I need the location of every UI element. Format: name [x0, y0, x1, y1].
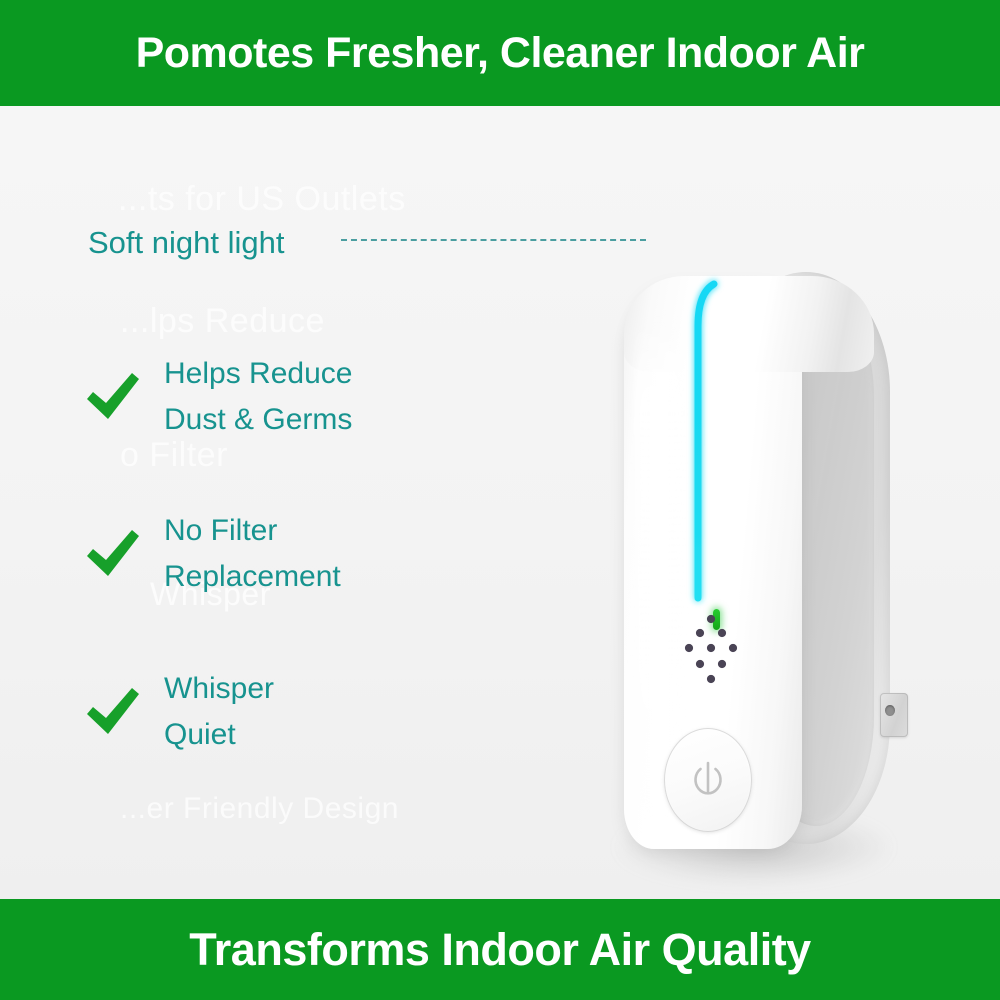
feature-line-2: Quiet — [164, 712, 274, 758]
check-icon — [84, 370, 142, 424]
feature-item: No Filter Replacement — [84, 508, 341, 599]
check-icon — [84, 527, 142, 581]
infographic-page: Pomotes Fresher, Cleaner Indoor Air ...t… — [0, 0, 1000, 1000]
bottom-banner: Transforms Indoor Air Quality — [0, 899, 1000, 1000]
feature-label: No Filter Replacement — [164, 508, 341, 599]
power-icon — [690, 758, 726, 802]
top-banner: Pomotes Fresher, Cleaner Indoor Air — [0, 0, 1000, 106]
feature-line-1: No Filter — [164, 514, 277, 547]
bottom-banner-text: Transforms Indoor Air Quality — [189, 924, 810, 976]
feature-line-2: Replacement — [164, 554, 341, 600]
top-banner-text: Pomotes Fresher, Cleaner Indoor Air — [136, 29, 865, 78]
feature-label: Whisper Quiet — [164, 666, 274, 757]
callout-soft-night-light: Soft night light — [88, 225, 284, 261]
product-stage: ...ts for US Outlets ...lps Reduce o Fil… — [0, 106, 1000, 899]
product-device-image — [612, 166, 912, 899]
callout-leader-line — [341, 239, 646, 241]
night-light-strip — [690, 282, 724, 604]
feature-item: Whisper Quiet — [84, 666, 274, 757]
feature-line-1: Helps Reduce — [164, 357, 352, 390]
wall-plug-prong — [880, 693, 908, 737]
ghost-text: ...lps Reduce — [120, 302, 325, 341]
feature-line-2: Dust & Germs — [164, 397, 352, 443]
device-highlight — [636, 316, 682, 816]
plug-prong-hole — [885, 705, 895, 716]
feature-line-1: Whisper — [164, 672, 274, 705]
ghost-text: ...er Friendly Design — [120, 792, 399, 826]
ghost-text: ...ts for US Outlets — [118, 180, 406, 219]
power-button[interactable] — [664, 728, 752, 832]
check-icon — [84, 685, 142, 739]
feature-item: Helps Reduce Dust & Germs — [84, 351, 352, 442]
sensor-vent-grid — [674, 611, 748, 691]
feature-label: Helps Reduce Dust & Germs — [164, 351, 352, 442]
